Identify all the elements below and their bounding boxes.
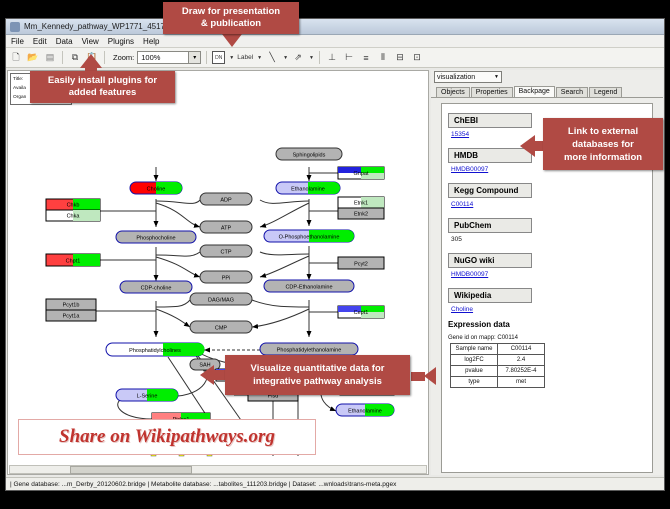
expr-cell-value: 2.4 [498,355,545,366]
node-lserine-left[interactable]: L-Serine [116,389,178,401]
table-row: pvalue 7.80252E-4 [451,366,545,377]
menu-item-file[interactable]: File [11,37,24,46]
db-header-nugo-wiki: NuGO wiki [448,253,532,268]
toolbar: 🗋 📂 ▤ ⧉ 📋 Zoom: 100% ▾ DN ▼ Label ▼ ╲ ▼ … [6,48,664,68]
statusbar-text: | Gene database: ...m_Derby_20120602.bri… [10,481,396,488]
node-ethanolamine-right[interactable]: Ethanolamine [336,404,394,416]
size-width-icon[interactable]: ⊟ [393,51,407,65]
zoom-dropdown-arrow[interactable]: ▾ [189,51,201,64]
label-dropdown-arrow[interactable]: ▼ [257,55,262,61]
menu-item-plugins[interactable]: Plugins [108,37,134,46]
db-link-nugo-wiki[interactable]: HMDB00097 [451,271,652,278]
node-cdp-choline[interactable]: CDP-choline [120,281,192,293]
node-pcyt1a[interactable]: Pcyt1a [46,310,96,321]
wikipathways-banner-text: Share on Wikipathways.org [59,426,275,448]
callout-visualize-line1: Visualize quantitative data for [251,362,385,375]
db-header-pubchem: PubChem [448,218,532,233]
expr-cell-label: type [451,377,498,388]
svg-text:O-Phosphoethanolamine: O-Phosphoethanolamine [279,235,340,241]
node-etnk2[interactable]: Etnk2 [338,208,384,219]
svg-text:Gnpat: Gnpat [354,171,369,177]
distribute-horizontal-icon[interactable]: ⦀ [376,51,390,65]
callout-draw-arrow [222,34,242,47]
svg-text:ADP: ADP [220,198,232,204]
node-cdp-ethanolamine[interactable]: CDP-Ethanolamine [264,280,354,292]
chevron-down-icon: ▼ [494,74,499,80]
expr-cell-label: log2FC [451,355,498,366]
toolbar-separator [206,51,207,64]
pathway-diagram[interactable]: Sphingolipids Gnpat [8,71,428,475]
window-titlebar: Mm_Kennedy_pathway_WP1771_45176.gpml [6,19,664,35]
svg-text:ATP: ATP [221,226,232,232]
visualization-combo[interactable]: visualization ▼ [434,71,502,83]
node-dagmag[interactable]: DAG/MAG [190,293,252,305]
screenshot-root: Mm_Kennedy_pathway_WP1771_45176.gpml Fil… [0,0,670,509]
callout-draw-line2: & publication [201,18,261,30]
db-header-wikipedia: Wikipedia [448,288,532,303]
toolbar-separator [319,51,320,64]
save-icon[interactable]: ▤ [43,51,57,65]
tab-properties[interactable]: Properties [471,87,513,97]
toolbar-separator [104,51,105,64]
interaction-icon[interactable]: ⇗ [291,51,305,65]
svg-text:CTP: CTP [221,250,232,256]
db-value-pubchem: 305 [451,236,652,243]
tab-legend[interactable]: Legend [589,87,622,97]
svg-text:Chpt1: Chpt1 [66,259,81,265]
callout-visualize-arrow [200,365,214,385]
node-gnpat[interactable]: Gnpat [338,167,384,179]
db-header-chebi: ChEBI [448,113,532,128]
menubar: File Edit Data View Plugins Help [6,35,664,48]
callout-plugins-line1: Easily install plugins for [48,75,157,87]
expr-cell-value: C00114 [498,344,545,355]
svg-text:Pcyt2: Pcyt2 [354,262,368,268]
label-icon[interactable]: Label [237,54,253,61]
side-panel-tabstrip: Objects Properties Backpage Search Legen… [431,84,663,98]
tab-search[interactable]: Search [556,87,588,97]
interaction-dropdown-arrow[interactable]: ▼ [309,55,314,61]
svg-text:Phosphatidylethanolamine: Phosphatidylethanolamine [277,348,342,354]
callout-links-line1: Link to external [568,125,638,138]
svg-text:Pcyt1a: Pcyt1a [63,314,81,320]
align-left-icon[interactable]: ⊢ [342,51,356,65]
callout-expression-stem [411,372,425,381]
node-adp[interactable]: ADP [200,193,252,205]
node-ppi[interactable]: PPi [200,271,252,283]
svg-text:Cept1: Cept1 [354,310,369,316]
db-header-kegg-compound: Kegg Compound [448,183,532,198]
menu-item-data[interactable]: Data [56,37,73,46]
expr-cell-value: 7.80252E-4 [498,366,545,377]
callout-visualize-line2: integrative pathway analysis [253,375,382,388]
wikipathways-banner: Share on Wikipathways.org [18,419,316,455]
callout-links-line2: databases for [572,138,634,151]
node-sphingolipids[interactable]: Sphingolipids [276,148,342,160]
callout-draw: Draw for presentation & publication [163,2,299,34]
expression-table: Sample name C00114 log2FC 2.4 pvalue 7.8… [450,343,545,388]
svg-text:Choline: Choline [147,187,166,193]
new-file-icon[interactable]: 🗋 [9,51,23,65]
visualization-combo-value: visualization [437,74,475,81]
statusbar: | Gene database: ...m_Derby_20120602.bri… [6,477,664,490]
svg-text:Chkb: Chkb [67,203,80,209]
callout-links-line3: more information [564,151,642,164]
node-pcyt1b[interactable]: Pcyt1b [46,299,96,310]
table-row: Sample name C00114 [451,344,545,355]
expr-cell-label: pvalue [451,366,498,377]
callout-plugins: Easily install plugins for added feature… [30,71,175,103]
expression-data-heading: Expression data [448,320,652,329]
zoom-label: Zoom: [113,53,134,62]
canvas-horizontal-scrollbar[interactable] [9,465,427,474]
table-row: log2FC 2.4 [451,355,545,366]
node-cept1[interactable]: Cept1 [338,306,384,318]
align-top-icon[interactable]: ⊥ [325,51,339,65]
callout-links: Link to external databases for more info… [543,118,663,170]
svg-text:CMP: CMP [215,326,228,332]
node-choline-top[interactable]: Choline [130,182,182,194]
pathway-canvas[interactable]: Title: Availa Organ [7,70,429,475]
svg-text:Ethanolamine: Ethanolamine [291,187,325,193]
datanode-icon[interactable]: DN [212,51,225,64]
svg-text:CDP-Ethanolamine: CDP-Ethanolamine [285,285,332,291]
zoom-input[interactable]: 100% [137,51,189,64]
svg-text:PPi: PPi [222,276,231,282]
line-icon[interactable]: ╲ [265,51,279,65]
svg-text:Etnk2: Etnk2 [354,212,368,218]
node-pcyt2[interactable]: Pcyt2 [338,257,384,269]
size-height-icon[interactable]: ⊡ [410,51,424,65]
svg-text:Etnk1: Etnk1 [354,201,368,207]
db-link-wikipedia[interactable]: Choline [451,306,652,313]
open-folder-icon[interactable]: 📂 [26,51,40,65]
callout-plugins-arrow [80,54,102,68]
svg-text:CDP-choline: CDP-choline [141,286,172,292]
node-ophosphoethanolamine[interactable]: O-Phosphoethanolamine [264,230,354,242]
svg-text:Ethanolamine: Ethanolamine [348,409,382,415]
node-chpt1[interactable]: Chpt1 [46,254,100,266]
datanode-dropdown-arrow[interactable]: ▼ [229,55,234,61]
node-atp[interactable]: ATP [200,221,252,233]
expr-cell-value: met [498,377,545,388]
node-cmp[interactable]: CMP [190,321,252,333]
tab-backpage[interactable]: Backpage [514,86,555,97]
svg-text:Phosphocholine: Phosphocholine [136,236,175,242]
callout-visualize: Visualize quantitative data for integrat… [225,355,410,395]
expr-cell-label: Sample name [451,344,498,355]
callout-draw-line1: Draw for presentation [182,6,280,18]
node-phosphocholine[interactable]: Phosphocholine [116,231,196,243]
svg-text:Phosphatidylcholines: Phosphatidylcholines [129,348,181,354]
svg-text:DAG/MAG: DAG/MAG [208,298,234,304]
line-dropdown-arrow[interactable]: ▼ [283,55,288,61]
db-link-kegg-compound[interactable]: C00114 [451,201,652,208]
menu-item-edit[interactable]: Edit [33,37,47,46]
tab-objects[interactable]: Objects [436,87,470,97]
node-chkb[interactable]: Chkb [46,199,100,210]
svg-text:Chka: Chka [67,214,81,220]
visualization-row: visualization ▼ [431,70,663,84]
menu-item-view[interactable]: View [82,37,99,46]
node-phosphatidylcholines[interactable]: Phosphatidylcholines [106,343,205,356]
svg-text:Pcyt1b: Pcyt1b [63,303,80,309]
app-icon [10,22,20,32]
svg-text:L-Serine: L-Serine [137,394,158,400]
node-etnk1[interactable]: Etnk1 [338,197,384,208]
svg-text:Sphingolipids: Sphingolipids [293,153,326,159]
node-ethanolamine-top[interactable]: Ethanolamine [276,182,340,194]
distribute-vertical-icon[interactable]: ≡ [359,51,373,65]
callout-expression-arrow [424,367,436,385]
gene-id-line: Gene id on mapp: C00114 [448,335,652,341]
menu-item-help[interactable]: Help [143,37,159,46]
node-chka[interactable]: Chka [46,210,100,221]
scroll-thumb[interactable] [70,466,192,474]
callout-plugins-line2: added features [69,87,137,99]
callout-links-arrow [520,135,535,157]
node-ctp[interactable]: CTP [200,245,252,257]
table-row: type met [451,377,545,388]
node-phosphatidylethanolamine[interactable]: Phosphatidylethanolamine [260,343,358,355]
toolbar-separator [62,51,63,64]
